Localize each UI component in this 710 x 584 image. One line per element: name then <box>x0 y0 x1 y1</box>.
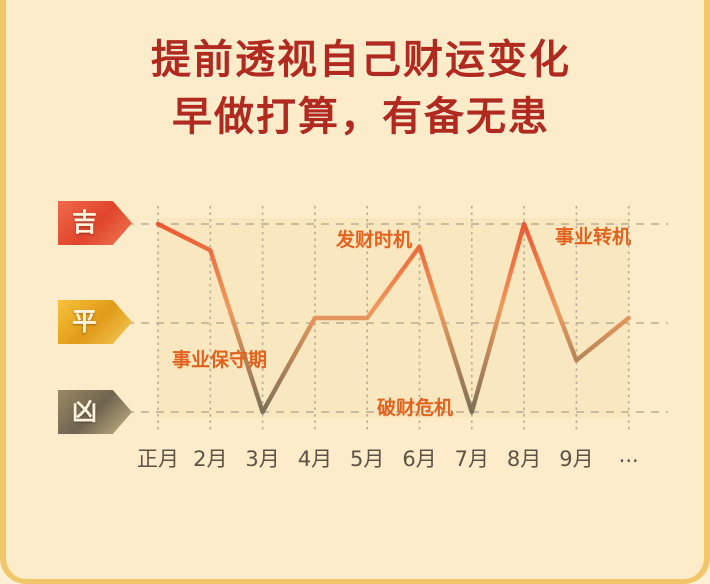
y-axis-badge-good-label: 吉 <box>72 208 97 237</box>
x-axis-tick-7: 8月 <box>496 443 552 473</box>
y-axis-badge-neutral-label: 平 <box>72 307 97 336</box>
title-line-1: 提前透视自己财运变化 <box>6 32 710 89</box>
x-axis-tick-4: 5月 <box>339 443 395 473</box>
x-axis-tick-2: 3月 <box>235 443 291 473</box>
x-axis-tick-labels: 正月2月3月4月5月6月7月8月9月... <box>6 443 710 473</box>
chart-annotation-wealth-opportunity: 发财时机 <box>336 225 412 252</box>
chart-annotation-career-turnaround: 事业转机 <box>555 222 631 249</box>
x-axis-tick-0: 正月 <box>130 443 186 473</box>
chart-annotation-career-conservative: 事业保守期 <box>172 345 267 372</box>
x-axis-tick-6: 7月 <box>444 443 500 473</box>
chart-annotation-money-loss-crisis: 破财危机 <box>377 393 453 420</box>
page-title: 提前透视自己财运变化 早做打算，有备无患 <box>6 32 710 146</box>
title-line-2: 早做打算，有备无患 <box>6 89 710 146</box>
x-axis-tick-3: 4月 <box>287 443 343 473</box>
y-axis-badge-bad-label: 凶 <box>72 397 97 426</box>
x-axis-tick-9: ... <box>601 443 657 467</box>
x-axis-tick-8: 9月 <box>548 443 604 473</box>
x-axis-tick-5: 6月 <box>392 443 448 473</box>
x-axis-tick-1: 2月 <box>182 443 238 473</box>
fortune-chart-card: 提前透视自己财运变化 早做打算，有备无患 吉 平 凶 事业保守期 发财时机 破财… <box>0 0 710 584</box>
